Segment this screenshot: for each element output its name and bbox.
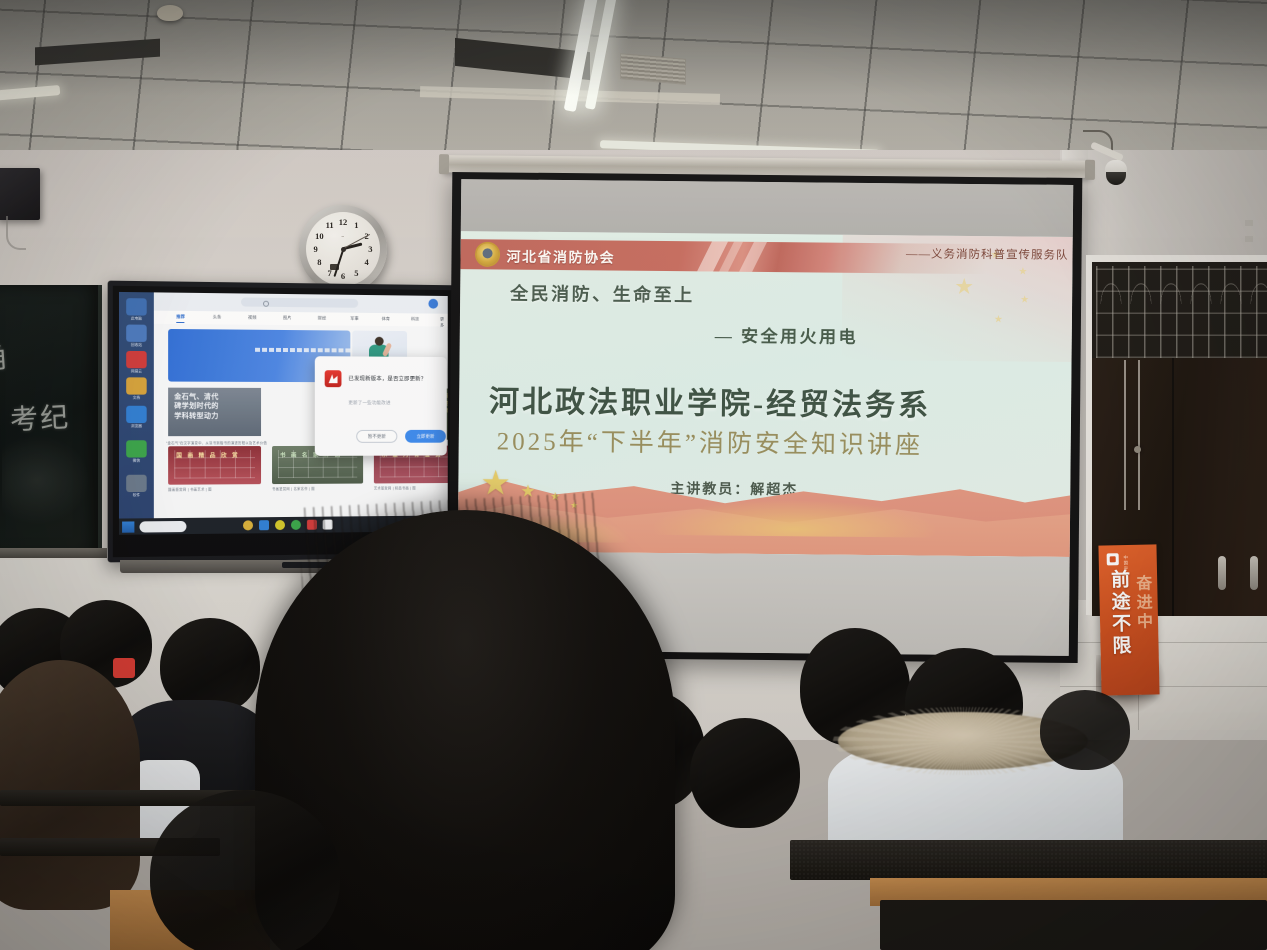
- hero-headline: [255, 348, 350, 353]
- banner-organization: 河北省消防协会: [506, 247, 615, 268]
- desktop-icon-documents[interactable]: [126, 377, 147, 394]
- chalk-writing: 考纪: [9, 395, 71, 438]
- chalk-writing: 确: [0, 332, 9, 378]
- desktop-icon-label: 浏览器: [121, 424, 152, 429]
- desktop-icon-label: 文档: [121, 396, 152, 401]
- tab-more[interactable]: 更多: [440, 317, 448, 329]
- clock-numeral: 11: [326, 220, 334, 230]
- door-knob-icon[interactable]: [1134, 446, 1141, 453]
- tab-video[interactable]: 视频: [248, 315, 256, 321]
- screen-blank-top: [461, 179, 1073, 237]
- news-caption: “金石气”在汉字演变中，从篆书到楷书的演进历程以及艺术价值: [166, 440, 267, 445]
- blackboard: 确 考纪: [0, 285, 102, 557]
- promotional-poster: 中国平安 前途不限 奋进中: [1098, 544, 1159, 695]
- clock-brand: ⎯: [342, 234, 345, 240]
- student-head: [690, 718, 800, 828]
- taskbar-icon-explorer[interactable]: [259, 520, 269, 530]
- clock-center-pin: [341, 247, 346, 252]
- update-dialog[interactable]: 已发现新版本，是否立即更新？ 更新了一些功能改进 暂不更新 立即更新: [315, 356, 447, 456]
- desktop-icon-label: 软件: [121, 493, 152, 498]
- desktop-icon-music[interactable]: [126, 351, 147, 368]
- desktop-icon-column[interactable]: 此电脑 回收站 网易云 文档 浏览器 微信 软件: [119, 292, 154, 535]
- tab-images[interactable]: 图片: [283, 315, 291, 321]
- desktop-icon-software[interactable]: [126, 475, 147, 492]
- tab-recommend[interactable]: 推荐: [176, 314, 185, 320]
- start-button-icon[interactable]: [122, 521, 134, 532]
- news-card-text: 金石气、清代碑学划时代的学科转型动力: [174, 393, 218, 422]
- student-head: [150, 790, 340, 950]
- fire-association-emblem-icon: [476, 243, 498, 265]
- clock-numeral: 1: [354, 220, 358, 230]
- thumbnail-caption: 国画鉴赏网 | 书画艺术 | 图: [168, 486, 212, 491]
- slide-subtitle-line1: 全民消防、生命至上: [510, 280, 695, 308]
- thumbnail-caption: 书画鉴赏网 | 名家名作 | 图: [272, 486, 315, 491]
- dialog-body: 更新了一些功能改进: [348, 400, 390, 406]
- clock-second-hand: [343, 234, 371, 250]
- door-handle-icon[interactable]: [1250, 556, 1258, 590]
- dialog-update-button[interactable]: 立即更新: [405, 430, 446, 443]
- desktop-icon-label: 网易云: [121, 369, 152, 374]
- door-handle-icon[interactable]: [1218, 556, 1226, 590]
- dialog-title: 已发现新版本，是否立即更新？: [348, 374, 426, 382]
- clock-numeral: 5: [354, 268, 358, 278]
- news-card[interactable]: 金石气、清代碑学划时代的学科转型动力: [168, 388, 261, 437]
- ceiling: [0, 0, 1267, 175]
- browser-nav-tabs[interactable]: 推荐 头条 视频 图片 财经 军事 体育 科技 更多: [154, 311, 448, 327]
- tab-sports[interactable]: 体育: [382, 316, 390, 322]
- slide-main-title: 河北政法职业学院-经贸法务系: [489, 376, 931, 424]
- taskbar-search-input[interactable]: [140, 520, 187, 532]
- taskbar-icon-star[interactable]: [243, 520, 253, 530]
- taskbar-icon-app[interactable]: [275, 520, 285, 530]
- ceiling-shading: [0, 0, 1267, 175]
- red-bottle: [113, 658, 135, 678]
- tab-military[interactable]: 军事: [350, 316, 358, 322]
- poster-subline: 奋进中: [1129, 574, 1154, 631]
- thumbnail-text: 国 画 精 品 欣 赏: [176, 452, 239, 461]
- student-head-brown-hair: [0, 660, 140, 910]
- clock-numeral: 9: [313, 244, 317, 254]
- clock-numeral: 8: [317, 257, 321, 267]
- thumbnail-caption: 艺术鉴赏网 | 精品书画 | 图: [374, 485, 416, 490]
- classroom-scene: ⎯ 12 1 2 3 4 5 6 7 8 9 10 11 确 考纪: [0, 0, 1267, 950]
- speaker-cable: [6, 216, 26, 250]
- clock-numeral: 12: [339, 217, 348, 227]
- blackboard-ledge: [0, 548, 107, 558]
- desktop-icon-label: 微信: [121, 458, 152, 463]
- chalk-smudge: [2, 435, 90, 525]
- clock-face: ⎯ 12 1 2 3 4 5 6 7 8 9 10 11: [306, 212, 380, 286]
- wall-plate: [1245, 236, 1253, 242]
- door-transom-window: [1092, 262, 1267, 358]
- clock-numeral: 4: [365, 257, 369, 267]
- wall-clock: ⎯ 12 1 2 3 4 5 6 7 8 9 10 11: [299, 205, 387, 293]
- student-head: [1040, 690, 1130, 770]
- wall-plate: [1245, 220, 1253, 226]
- app-logo-icon: [325, 370, 342, 387]
- desktop-icon-label: 此电脑: [121, 316, 152, 321]
- wall-speaker: [0, 168, 40, 220]
- clock-numeral: 10: [315, 231, 324, 241]
- clock-numeral: 3: [368, 244, 372, 254]
- browser-window[interactable]: 推荐 头条 视频 图片 财经 军事 体育 科技 更多: [154, 292, 448, 534]
- tab-finance[interactable]: 财经: [318, 315, 326, 321]
- desktop-icon-this-pc[interactable]: [126, 298, 147, 315]
- desk-front-panel: [880, 900, 1267, 950]
- poster-logo-icon: [1107, 553, 1119, 565]
- desktop-icon-recycle-bin[interactable]: [126, 325, 147, 342]
- clock-numeral: 6: [341, 271, 345, 281]
- thumbnail-card[interactable]: 国 画 精 品 欣 赏: [168, 446, 261, 485]
- tab-headlines[interactable]: 头条: [213, 314, 221, 320]
- desktop-icon-label: 回收站: [121, 343, 152, 348]
- tab-tech[interactable]: 科技: [411, 316, 419, 322]
- banner-service-team: ——义务消防科普宣传服务队: [906, 245, 1069, 263]
- desktop-icon-browser[interactable]: [126, 406, 147, 423]
- gear-icon[interactable]: [428, 299, 438, 309]
- desk-row-right: [790, 840, 1267, 880]
- dialog-cancel-button[interactable]: 暂不更新: [356, 430, 397, 443]
- search-input[interactable]: [241, 297, 358, 307]
- tv-screen[interactable]: 此电脑 回收站 网易云 文档 浏览器 微信 软件: [119, 292, 448, 535]
- slide-subtitle-line2: — 安全用火用电: [715, 322, 858, 348]
- desktop-icon-wechat[interactable]: [126, 440, 147, 457]
